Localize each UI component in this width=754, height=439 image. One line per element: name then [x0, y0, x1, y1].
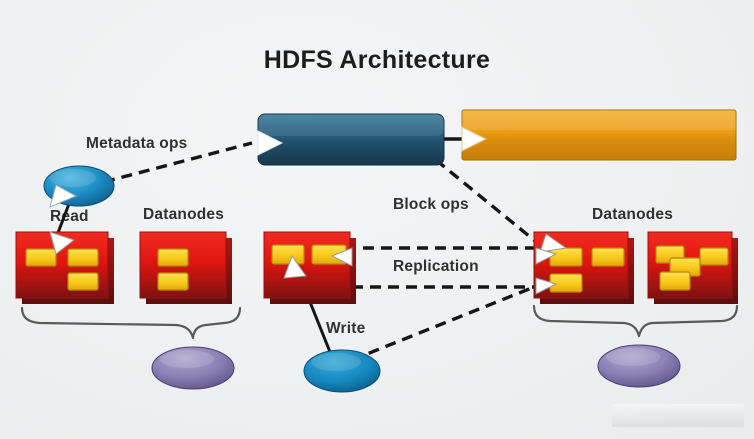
block — [68, 273, 98, 290]
node-layer — [0, 0, 754, 439]
diagram-canvas: HDFS Architecture Namenode Metadata (Nam… — [0, 0, 754, 439]
block — [550, 274, 582, 292]
block — [592, 248, 624, 266]
block — [158, 249, 188, 266]
datanode-4[interactable] — [534, 232, 634, 304]
namenode-box[interactable] — [258, 114, 444, 165]
block — [272, 245, 304, 264]
datanode-1[interactable] — [16, 232, 114, 304]
block — [550, 248, 582, 266]
datanode-2[interactable] — [140, 232, 232, 304]
block — [26, 249, 56, 266]
block — [660, 272, 690, 290]
metadata-box[interactable] — [462, 110, 736, 160]
client-top[interactable] — [44, 166, 114, 207]
client-bottom[interactable] — [304, 350, 380, 392]
block — [158, 273, 188, 290]
watermark-overlay — [612, 404, 744, 427]
rack-2[interactable] — [598, 345, 680, 387]
rack-1[interactable] — [152, 347, 234, 389]
block — [68, 249, 98, 266]
datanode-5[interactable] — [648, 232, 738, 304]
datanode-3[interactable] — [264, 232, 356, 304]
block — [700, 248, 728, 265]
